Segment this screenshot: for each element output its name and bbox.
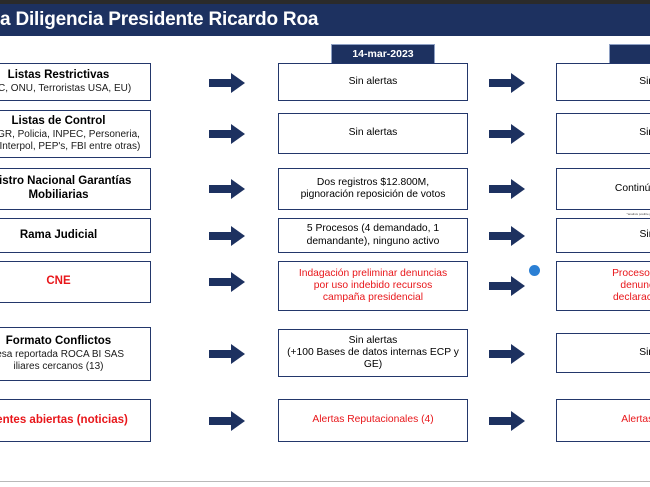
mid-cell-line1: 5 Procesos (4 demandado, 1: [307, 223, 439, 235]
mid-cell-line2: demandante), ninguno activo: [307, 236, 440, 248]
mid-cell-line1: Sin alertas: [349, 127, 398, 139]
row-label-sub: N, CGR, Policia, INPEC, Personeria,: [0, 129, 140, 141]
right-cell-box[interactable]: Sin a: [556, 63, 650, 101]
row-label-sub: FAC, ONU, Terroristas USA, EU): [0, 83, 131, 95]
row-label-sub2: iliares cercanos (13): [13, 361, 103, 373]
right-cell-box[interactable]: Procesos agrupa denuncias de declaracion…: [556, 261, 650, 311]
row-label-sub2: uría, Interpol, PEP's, FBI entre otras): [0, 141, 140, 153]
right-arrow-icon: [487, 225, 527, 247]
mid-cell-line3: campaña presidencial: [323, 292, 423, 304]
mid-cell-line1: Dos registros $12.800M,: [317, 177, 429, 189]
row-label-sub: Mobiliarias: [28, 189, 88, 203]
right-cell-line3: declaraciones Ni: [613, 292, 650, 304]
right-arrow-icon: [487, 123, 527, 145]
right-cell-box[interactable]: Sin a: [556, 333, 650, 373]
mid-cell-line1: Indagación preliminar denuncias: [299, 268, 447, 280]
row-label-title: Formato Conflictos: [6, 335, 111, 349]
right-cell-box[interactable]: Alertas Repu: [556, 399, 650, 442]
right-arrow-icon: [487, 72, 527, 94]
title-bar: a Diligencia Presidente Ricardo Roa: [0, 4, 650, 36]
mid-cell-line2: (+100 Bases de datos internas ECP y: [287, 347, 459, 359]
row-label-box[interactable]: Rama Judicial: [0, 218, 151, 253]
mid-cell-box[interactable]: Sin alertas: [278, 63, 468, 101]
mid-cell-box[interactable]: Sin alertas: [278, 113, 468, 154]
row-label-box[interactable]: Formato Conflictos resa reportada ROCA B…: [0, 327, 151, 381]
right-cell-line2: denuncias de: [620, 280, 650, 292]
right-cell-line1: Sin a: [639, 347, 650, 359]
mid-cell-line3: GE): [364, 359, 382, 371]
right-arrow-icon: [207, 343, 247, 365]
row-label-box[interactable]: Listas Restrictivas FAC, ONU, Terrorista…: [0, 63, 151, 101]
right-arrow-icon: [207, 271, 247, 293]
right-arrow-icon: [487, 343, 527, 365]
mid-cell-line2: por uso indebido recursos: [314, 280, 433, 292]
right-arrow-icon: [487, 410, 527, 432]
date-badge-mid: 14-mar-2023: [331, 44, 435, 65]
blue-dot-marker: [529, 265, 540, 276]
right-cell-box[interactable]: Sin c: [556, 218, 650, 253]
row-label-box[interactable]: Listas de Control N, CGR, Policia, INPEC…: [0, 110, 151, 158]
row-label-title: Listas de Control: [12, 115, 106, 129]
row-label-sub: resa reportada ROCA BI SAS: [0, 349, 124, 361]
bottom-divider: [0, 481, 650, 482]
right-arrow-icon: [487, 275, 527, 297]
right-cell-line1: Sin c: [640, 229, 650, 241]
row-label-box[interactable]: CNE: [0, 261, 151, 303]
right-cell-box[interactable]: Sin a: [556, 113, 650, 154]
right-arrow-icon: [487, 178, 527, 200]
right-cell-line1: Sin a: [639, 76, 650, 88]
right-arrow-icon: [207, 123, 247, 145]
row-label-title: CNE: [46, 275, 70, 289]
mid-cell-line1: Sin alertas: [349, 76, 398, 88]
mid-cell-line2: pignoración reposición de votos: [301, 189, 446, 201]
footnote-text: *analisis posible pración economica: [556, 212, 650, 216]
row-label-box[interactable]: uentes abiertas (noticias): [0, 399, 151, 442]
mid-cell-box[interactable]: 5 Procesos (4 demandado, 1 demandante), …: [278, 218, 468, 253]
right-cell-line1: Procesos agrupa: [612, 268, 650, 280]
right-cell-line1: Sin a: [639, 127, 650, 139]
row-label-title: uentes abiertas (noticias): [0, 414, 128, 428]
right-cell-line1: Alertas Repu: [621, 414, 650, 426]
right-arrow-icon: [207, 178, 247, 200]
right-cell-line1: Continúan en la: [615, 183, 650, 195]
row-label-title: Listas Restrictivas: [8, 69, 110, 83]
row-label-title: egistro Nacional Garantías: [0, 175, 131, 189]
right-cell-box[interactable]: Continúan en la: [556, 168, 650, 210]
right-arrow-icon: [207, 225, 247, 247]
mid-cell-line1: Alertas Reputacionales (4): [312, 414, 433, 426]
date-badge-right: 1: [609, 44, 650, 65]
right-arrow-icon: [207, 72, 247, 94]
page-title: a Diligencia Presidente Ricardo Roa: [0, 9, 318, 31]
row-label-title: Rama Judicial: [20, 229, 97, 243]
mid-cell-box[interactable]: Alertas Reputacionales (4): [278, 399, 468, 442]
mid-cell-box[interactable]: Dos registros $12.800M, pignoración repo…: [278, 168, 468, 210]
mid-cell-box[interactable]: Sin alertas (+100 Bases de datos interna…: [278, 329, 468, 377]
row-label-box[interactable]: egistro Nacional Garantías Mobiliarias: [0, 168, 151, 210]
mid-cell-line1: Sin alertas: [349, 335, 398, 347]
right-arrow-icon: [207, 410, 247, 432]
mid-cell-box[interactable]: Indagación preliminar denuncias por uso …: [278, 261, 468, 311]
